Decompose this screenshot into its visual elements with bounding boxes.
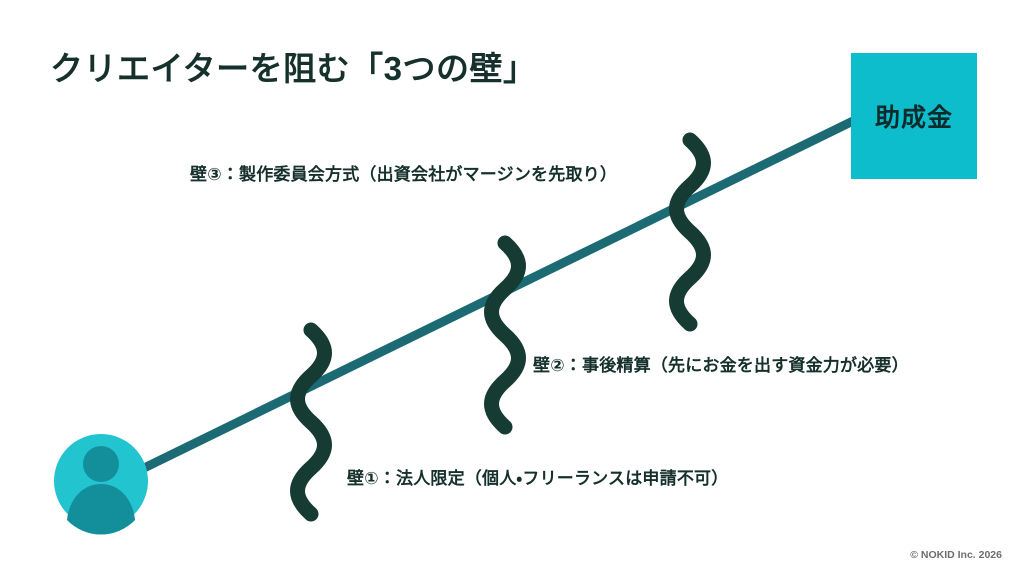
text-layer: クリエイターを阻む「3つの壁」 壁③：製作委員会方式（出資会社がマージンを先取り… (0, 0, 1024, 576)
goal-subsidy-label: 助成金 (875, 98, 953, 134)
wall-1-label: 壁①：法人限定（個人・フリーランスは申請不可） (347, 464, 728, 489)
wall-3-label: 壁③：製作委員会方式（出資会社がマージンを先取り） (190, 160, 617, 185)
footer-copyright: © NOKID Inc. 2026 (910, 549, 1002, 561)
goal-subsidy-box: 助成金 (851, 53, 977, 179)
wall-2-label: 壁②：事後精算（先にお金を出す資金力が必要） (533, 351, 909, 376)
page-title: クリエイターを阻む「3つの壁」 (50, 42, 537, 90)
slide-canvas: クリエイターを阻む「3つの壁」 壁③：製作委員会方式（出資会社がマージンを先取り… (0, 0, 1024, 576)
